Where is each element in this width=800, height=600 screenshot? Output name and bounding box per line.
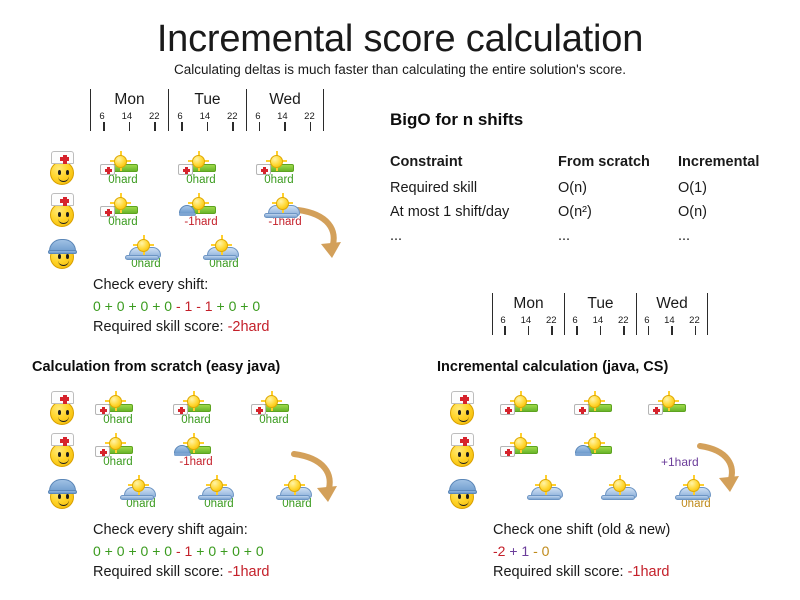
tick-mark — [551, 326, 553, 335]
section-heading-from-scratch: Calculation from scratch (easy java) — [32, 359, 280, 375]
employee-avatar-nurse — [48, 391, 78, 425]
skill-badge-nurse-icon — [256, 164, 271, 175]
score-result-label: Required skill score: — [93, 319, 228, 335]
avatar-smile — [58, 457, 69, 464]
avatar-eye-right — [66, 494, 69, 499]
skill-badge-nurse-icon — [500, 446, 515, 457]
sum-term: + — [148, 298, 164, 314]
sun-icon — [539, 479, 552, 492]
sum-term: + — [240, 543, 256, 559]
avatar-smile — [58, 415, 69, 422]
bigo-table: ConstraintFrom scratchIncremental Requir… — [390, 152, 759, 250]
avatar-eye-right — [466, 410, 469, 415]
employee-avatar-nurse — [448, 433, 478, 467]
red-cross-icon — [60, 397, 69, 401]
shift-score-label: 0hard — [169, 414, 223, 427]
sun-icon — [109, 395, 122, 408]
nurse-cap-icon — [51, 151, 74, 164]
hour-label: 6 — [500, 315, 505, 326]
day-label: Wed — [637, 293, 707, 313]
avatar-eye-left — [58, 410, 61, 415]
bigo-table-header-row: ConstraintFrom scratchIncremental — [390, 152, 759, 178]
score-result-value: -1hard — [228, 564, 270, 580]
shift-bar-blue-brim — [276, 495, 310, 500]
bigo-cell: O(n) — [678, 202, 759, 226]
sun-icon — [288, 479, 301, 492]
shift-score-label: 0hard — [96, 174, 150, 187]
shift-bar-blue-brim — [601, 495, 635, 500]
red-cross-icon — [505, 451, 512, 454]
hard-hat-brim-icon — [48, 250, 77, 254]
sum-term: - — [192, 298, 204, 314]
score-result-label: Required skill score: — [93, 564, 228, 580]
shift-score-label: 0hard — [91, 456, 145, 469]
employee-avatar-worker — [48, 475, 78, 509]
skill-badge-hardhat-icon — [179, 205, 195, 214]
day-column-wed: Wed61422 — [636, 293, 708, 335]
tick-mark — [154, 122, 156, 131]
day-label: Mon — [91, 89, 168, 109]
sun-icon — [137, 239, 150, 252]
shift-score-label: 0hard — [247, 414, 301, 427]
sun-icon — [109, 437, 122, 450]
sun-icon — [662, 395, 675, 408]
skill-badge-nurse-icon — [95, 404, 110, 415]
avatar-face — [50, 401, 74, 425]
sum-term: 0 — [117, 543, 125, 559]
sun-icon — [187, 395, 200, 408]
tick-mark — [284, 122, 286, 131]
shift-bar-blue-brim — [203, 255, 237, 260]
sum-term: - — [176, 298, 185, 314]
tick-mark — [504, 326, 506, 335]
bigo-table-row: At most 1 shift/dayO(n²)O(n) — [390, 202, 759, 226]
shift-assignment[interactable]: 0hard — [178, 155, 224, 191]
hour-label: 22 — [546, 315, 557, 326]
score-sum-expression: 0 + 0 + 0 + 0 - 1 + 0 + 0 + 0 — [93, 541, 270, 562]
red-cross-icon — [261, 169, 268, 172]
skill-badge-nurse-icon — [178, 164, 193, 175]
hour-ticks — [637, 326, 707, 335]
avatar-eye-left — [58, 170, 61, 175]
avatar-eye-right — [466, 452, 469, 457]
tick-mark — [648, 326, 650, 335]
section-heading-incremental: Incremental calculation (java, CS) — [437, 359, 668, 375]
tick-mark — [232, 122, 234, 131]
shift-assignment[interactable]: 0hard — [95, 437, 141, 473]
hour-label: 6 — [99, 111, 104, 122]
day-column-wed: Wed61422 — [246, 89, 324, 131]
red-cross-icon — [100, 409, 107, 412]
sun-icon — [265, 395, 278, 408]
shift-assignment[interactable]: 0hard — [256, 155, 302, 191]
skill-badge-nurse-icon — [648, 404, 663, 415]
shift-score-label: 0hard — [91, 414, 145, 427]
hour-label: 6 — [255, 111, 260, 122]
avatar-face — [50, 443, 74, 467]
red-cross-icon — [505, 409, 512, 412]
employee-avatar-nurse — [48, 193, 78, 227]
hour-label: 22 — [689, 315, 700, 326]
shift-assignment[interactable]: 0hard — [201, 239, 247, 275]
sum-term: 0 — [93, 543, 101, 559]
employee-avatar-worker — [48, 235, 78, 269]
hour-ticks — [91, 122, 168, 131]
sum-term: 0 — [164, 543, 172, 559]
hour-label: 22 — [149, 111, 160, 122]
score-result-line: Required skill score: -1hard — [493, 562, 670, 583]
hour-ticks — [169, 122, 246, 131]
caption-line-1: Check every shift: — [93, 275, 270, 296]
tick-mark — [671, 326, 673, 335]
sun-icon — [114, 155, 127, 168]
schedule-ruler-bottom: Mon61422Tue61422Wed61422 — [492, 293, 708, 335]
hour-ticks — [493, 326, 564, 335]
bigo-cell: O(1) — [678, 178, 759, 202]
shift-assignment[interactable] — [525, 479, 571, 515]
bigo-cell: ... — [558, 226, 678, 250]
sum-term: + — [148, 543, 164, 559]
sum-term: 0 — [232, 543, 240, 559]
shift-bar-blue-brim — [527, 495, 561, 500]
shift-assignment[interactable] — [500, 395, 546, 431]
red-cross-icon — [100, 451, 107, 454]
bigo-column-header: Constraint — [390, 152, 558, 178]
hour-label: 22 — [618, 315, 629, 326]
score-result-label: Required skill score: — [493, 564, 628, 580]
shift-assignment[interactable] — [574, 395, 620, 431]
red-cross-icon — [256, 409, 263, 412]
nurse-cap-icon — [51, 433, 74, 446]
hour-label: 6 — [572, 315, 577, 326]
nurse-cap-icon — [451, 391, 474, 404]
sum-term: + — [505, 543, 521, 559]
tick-mark — [623, 326, 625, 335]
bigo-table-row: ......... — [390, 226, 759, 250]
bigo-title: BigO for n shifts — [390, 110, 523, 130]
avatar-eye-left — [458, 494, 461, 499]
score-result-value: -2hard — [228, 319, 270, 335]
avatar-eye-left — [58, 212, 61, 217]
red-cross-icon — [105, 169, 112, 172]
tick-mark — [310, 122, 312, 131]
sum-term: + — [125, 543, 141, 559]
page-title: Incremental score calculation — [0, 18, 800, 61]
red-cross-icon — [105, 211, 112, 214]
avatar-eye-right — [66, 170, 69, 175]
hour-label: 22 — [304, 111, 315, 122]
bigo-table-row: Required skillO(n)O(1) — [390, 178, 759, 202]
avatar-eye-left — [458, 452, 461, 457]
shift-assignment[interactable]: 0hard — [196, 479, 242, 515]
bigo-cell: O(n²) — [558, 202, 678, 226]
shift-assignment[interactable] — [574, 437, 620, 473]
skill-badge-nurse-icon — [251, 404, 266, 415]
avatar-smile — [58, 217, 69, 224]
shift-assignment[interactable]: -1hard — [173, 437, 219, 473]
shift-score-label: 0hard — [252, 174, 306, 187]
schedule-ruler-top: Mon61422Tue61422Wed61422 — [90, 89, 324, 131]
employee-avatar-nurse — [448, 391, 478, 425]
sum-term: 0 — [93, 298, 101, 314]
tick-mark — [181, 122, 183, 131]
shift-assignment[interactable] — [500, 437, 546, 473]
shift-assignment[interactable] — [648, 395, 694, 431]
shift-assignment[interactable]: 0hard — [251, 395, 297, 431]
caption-line-1: Check one shift (old & new) — [493, 520, 670, 541]
red-cross-icon — [60, 157, 69, 161]
red-cross-icon — [460, 439, 469, 443]
day-label: Tue — [565, 293, 636, 313]
shift-assignment[interactable]: 0hard — [95, 395, 141, 431]
hour-label: 14 — [122, 111, 133, 122]
bigo-column-header: From scratch — [558, 152, 678, 178]
bigo-column-header: Incremental — [678, 152, 759, 178]
sun-icon — [588, 395, 601, 408]
avatar-eye-right — [66, 410, 69, 415]
hour-labels: 61422 — [493, 313, 564, 326]
skill-badge-nurse-icon — [574, 404, 589, 415]
skill-badge-nurse-icon — [500, 404, 515, 415]
sun-icon — [276, 197, 289, 210]
shift-bar-blue-brim — [675, 495, 709, 500]
bigo-cell: ... — [390, 226, 558, 250]
sum-term: + — [125, 298, 141, 314]
sun-icon — [114, 197, 127, 210]
sum-term: 1 — [205, 298, 213, 314]
sum-term: 0 — [208, 543, 216, 559]
red-cross-icon — [653, 409, 660, 412]
day-column-mon: Mon61422 — [90, 89, 168, 131]
sum-term: + — [101, 543, 117, 559]
tick-mark — [695, 326, 697, 335]
red-cross-icon — [183, 169, 190, 172]
skill-badge-hardhat-icon — [174, 445, 190, 454]
sun-icon — [613, 479, 626, 492]
sun-icon — [215, 239, 228, 252]
tick-mark — [103, 122, 105, 131]
page-subtitle: Calculating deltas is much faster than c… — [0, 62, 800, 77]
red-cross-icon — [178, 409, 185, 412]
shift-bar-blue-brim — [198, 495, 232, 500]
shift-assignment[interactable]: -1hard — [178, 197, 224, 233]
sum-term: 0 — [542, 543, 550, 559]
bigo-cell: O(n) — [558, 178, 678, 202]
skill-badge-nurse-icon — [173, 404, 188, 415]
hour-labels: 61422 — [91, 109, 168, 122]
sum-term: + — [101, 298, 117, 314]
hour-ticks — [247, 122, 323, 131]
sum-term: 0 — [252, 298, 260, 314]
hour-label: 22 — [227, 111, 238, 122]
hour-labels: 61422 — [169, 109, 246, 122]
avatar-eye-right — [66, 212, 69, 217]
skill-badge-nurse-icon — [100, 206, 115, 217]
hour-label: 14 — [521, 315, 532, 326]
sun-icon — [132, 479, 145, 492]
hour-label: 14 — [200, 111, 211, 122]
skill-badge-hardhat-icon — [575, 445, 591, 454]
tick-mark — [259, 122, 261, 131]
skill-badge-nurse-icon — [95, 446, 110, 457]
shift-assignment[interactable]: 0hard — [100, 155, 146, 191]
avatar-smile — [458, 499, 469, 506]
sun-icon — [514, 395, 527, 408]
nurse-cap-icon — [51, 391, 74, 404]
red-cross-icon — [460, 397, 469, 401]
shift-assignment[interactable] — [599, 479, 645, 515]
hour-labels: 61422 — [565, 313, 636, 326]
hard-hat-brim-icon — [575, 453, 592, 456]
nurse-cap-icon — [451, 433, 474, 446]
hard-hat-brim-icon — [179, 213, 196, 216]
sun-icon — [514, 437, 527, 450]
avatar-smile — [458, 415, 469, 422]
sum-term: 0 — [117, 298, 125, 314]
day-column-mon: Mon61422 — [492, 293, 564, 335]
avatar-face — [50, 203, 74, 227]
avatar-face — [450, 443, 474, 467]
shift-bar-blue-brim — [264, 213, 298, 218]
bigo-table-body: Required skillO(n)O(1)At most 1 shift/da… — [390, 178, 759, 250]
skill-badge-nurse-icon — [100, 164, 115, 175]
sum-term: + — [213, 298, 229, 314]
hour-ticks — [565, 326, 636, 335]
shift-score-label: -1hard — [168, 216, 234, 229]
caption-bottom-left: Check every shift again: 0 + 0 + 0 + 0 -… — [93, 520, 270, 583]
red-cross-icon — [60, 439, 69, 443]
score-sum-expression: -2 + 1 - 0 — [493, 541, 670, 562]
hour-label: 14 — [593, 315, 604, 326]
tick-mark — [129, 122, 131, 131]
employee-avatar-nurse — [48, 151, 78, 185]
caption-bottom-right: Check one shift (old & new) -2 + 1 - 0 R… — [493, 520, 670, 583]
avatar-eye-left — [58, 452, 61, 457]
avatar-eye-left — [458, 410, 461, 415]
avatar-face — [450, 401, 474, 425]
hour-label: 14 — [664, 315, 675, 326]
sum-term: - — [176, 543, 185, 559]
avatar-eye-right — [66, 452, 69, 457]
nurse-cap-icon — [51, 193, 74, 206]
score-sum-expression: 0 + 0 + 0 + 0 - 1 - 1 + 0 + 0 — [93, 296, 270, 317]
score-result-value: -1hard — [628, 564, 670, 580]
employee-avatar-worker — [448, 475, 478, 509]
shift-bar-blue-brim — [125, 255, 159, 260]
avatar-eye-right — [66, 254, 69, 259]
red-cross-icon — [579, 409, 586, 412]
shift-assignment[interactable]: 0hard — [173, 395, 219, 431]
sum-term: + — [216, 543, 232, 559]
shift-score-label: 0hard — [96, 216, 150, 229]
sum-term: -2 — [493, 543, 505, 559]
bigo-cell: ... — [678, 226, 759, 250]
avatar-smile — [458, 457, 469, 464]
avatar-eye-left — [58, 254, 61, 259]
sun-icon — [192, 155, 205, 168]
shift-assignment[interactable]: 0hard — [100, 197, 146, 233]
sun-icon — [270, 155, 283, 168]
bigo-cell: Required skill — [390, 178, 558, 202]
caption-top-left: Check every shift: 0 + 0 + 0 + 0 - 1 - 1… — [93, 275, 270, 338]
day-column-tue: Tue61422 — [564, 293, 636, 335]
sum-term: - — [529, 543, 541, 559]
tick-mark — [528, 326, 530, 335]
sum-term: 0 — [164, 298, 172, 314]
shift-assignment[interactable]: 0hard — [118, 479, 164, 515]
avatar-smile — [58, 499, 69, 506]
hard-hat-brim-icon — [48, 490, 77, 494]
avatar-eye-right — [466, 494, 469, 499]
hour-label: 14 — [277, 111, 288, 122]
tick-mark — [576, 326, 578, 335]
day-column-tue: Tue61422 — [168, 89, 246, 131]
hour-labels: 61422 — [247, 109, 323, 122]
shift-bar-blue-brim — [120, 495, 154, 500]
avatar-smile — [58, 259, 69, 266]
score-result-line: Required skill score: -1hard — [93, 562, 270, 583]
shift-score-label: 0hard — [174, 174, 228, 187]
employee-avatar-nurse — [48, 433, 78, 467]
tick-mark — [600, 326, 602, 335]
avatar-face — [50, 161, 74, 185]
score-result-line: Required skill score: -2hard — [93, 317, 270, 338]
sum-term: + — [192, 543, 208, 559]
avatar-smile — [58, 175, 69, 182]
hour-label: 6 — [177, 111, 182, 122]
day-label: Wed — [247, 89, 323, 109]
day-label: Tue — [169, 89, 246, 109]
sun-icon — [210, 479, 223, 492]
sum-term: + — [236, 298, 252, 314]
sun-icon — [687, 479, 700, 492]
hour-labels: 61422 — [637, 313, 707, 326]
tick-mark — [207, 122, 209, 131]
shift-score-label: -1hard — [163, 456, 229, 469]
caption-line-1: Check every shift again: — [93, 520, 270, 541]
hour-label: 6 — [644, 315, 649, 326]
bigo-cell: At most 1 shift/day — [390, 202, 558, 226]
hard-hat-brim-icon — [448, 490, 477, 494]
day-label: Mon — [493, 293, 564, 313]
hard-hat-brim-icon — [174, 453, 191, 456]
avatar-eye-left — [58, 494, 61, 499]
red-cross-icon — [60, 199, 69, 203]
shift-assignment[interactable]: 0hard — [123, 239, 169, 275]
sum-term: 0 — [256, 543, 264, 559]
